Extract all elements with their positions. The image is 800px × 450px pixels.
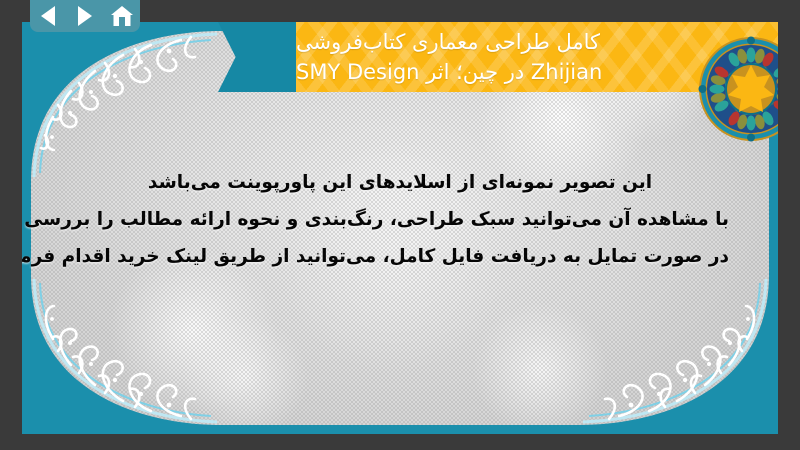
forward-button[interactable] xyxy=(71,3,99,29)
body-line-1: این تصویر نمونه‌ای از اسلایدهای این پاور… xyxy=(71,164,729,201)
body-line-2: با مشاهده آن می‌توانید سبک طراحی، رنگ‌بن… xyxy=(71,201,729,238)
arrow-left-icon xyxy=(41,6,55,26)
title-line-2: Zhijian در چین؛ اثر SMY Design xyxy=(296,57,602,87)
home-button[interactable] xyxy=(108,3,136,29)
ribbon-tail xyxy=(218,22,298,92)
corner-ornament-top-left xyxy=(31,31,221,181)
corner-ornament-bottom-left xyxy=(31,275,221,425)
home-icon xyxy=(110,5,134,27)
back-button[interactable] xyxy=(34,3,62,29)
slide-canvas: این تصویر نمونه‌ای از اسلایدهای این پاور… xyxy=(22,22,778,434)
slide-body-text: این تصویر نمونه‌ای از اسلایدهای این پاور… xyxy=(71,164,729,275)
title-line-1: کامل طراحی معماری کتاب‌فروشی xyxy=(296,27,600,57)
navigation-toolbar xyxy=(30,0,140,32)
title-banner: کامل طراحی معماری کتاب‌فروشی Zhijian در … xyxy=(218,22,778,92)
mandala-rosette-icon xyxy=(698,36,778,142)
body-line-3: در صورت تمایل به دریافت فایل کامل، می‌تو… xyxy=(71,238,729,275)
corner-ornament-bottom-right xyxy=(579,275,769,425)
arrow-right-icon xyxy=(78,6,92,26)
